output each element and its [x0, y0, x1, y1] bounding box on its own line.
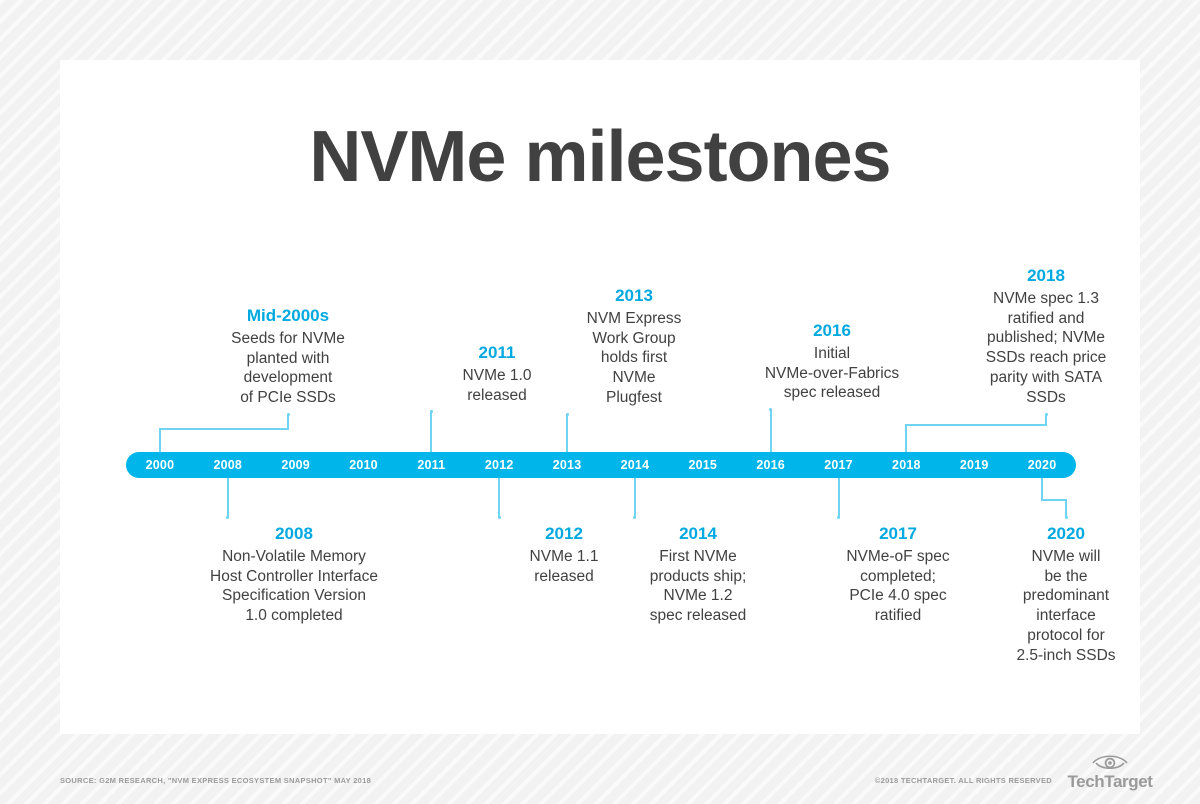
connector-2020-vertical-lower	[1065, 500, 1067, 517]
connector-2018-horizontal	[905, 424, 1047, 426]
connector-2018-vertical-lower	[905, 425, 907, 452]
page-title: NVMe milestones	[60, 120, 1140, 196]
connector-mid-2000s-vertical-lower	[159, 429, 161, 452]
techtarget-logo: TechTarget	[1060, 752, 1160, 792]
annotation-year: Mid-2000s	[183, 305, 393, 327]
timeline-tick-2018: 2018	[892, 452, 921, 478]
techtarget-wordmark: TechTarget	[1060, 772, 1160, 792]
footer-source-text: SOURCE: G2M RESEARCH, "NVM EXPRESS ECOSY…	[60, 776, 371, 785]
timeline-tick-2020: 2020	[1028, 452, 1057, 478]
connector-2017-dot	[837, 516, 840, 519]
annotation-year: 2008	[164, 523, 424, 545]
timeline-tick-2010: 2010	[349, 452, 378, 478]
connector-2018-dot	[1045, 413, 1048, 416]
timeline-tick-2009: 2009	[281, 452, 310, 478]
annotation-2018: 2018NVMe spec 1.3 ratified and published…	[946, 265, 1146, 408]
annotation-year: 2017	[808, 523, 988, 545]
annotation-body: NVMe-oF spec completed; PCIe 4.0 spec ra…	[808, 547, 988, 626]
connector-2014-vertical	[634, 478, 636, 517]
timeline-tick-2019: 2019	[960, 452, 989, 478]
annotation-2016: 2016Initial NVMe-over-Fabrics spec relea…	[727, 320, 937, 403]
annotation-2008: 2008Non-Volatile Memory Host Controller …	[164, 523, 424, 626]
annotation-body: NVMe will be the predominant interface p…	[986, 547, 1146, 666]
annotation-2014: 2014First NVMe products ship; NVMe 1.2 s…	[608, 523, 788, 626]
annotation-year: 2020	[986, 523, 1146, 545]
annotation-year: 2018	[946, 265, 1146, 287]
annotation-body: Initial NVMe-over-Fabrics spec released	[727, 344, 937, 403]
connector-2011-dot	[430, 410, 433, 413]
connector-2014-dot	[633, 516, 636, 519]
connector-mid-2000s-dot	[287, 413, 290, 416]
connector-2008-vertical	[227, 478, 229, 517]
connector-2013-vertical	[566, 414, 568, 452]
timeline-tick-2000: 2000	[146, 452, 175, 478]
timeline-tick-2011: 2011	[417, 452, 445, 478]
connector-2016-dot	[769, 408, 772, 411]
connector-2008-dot	[226, 516, 229, 519]
footer-copyright-text: ©2018 TECHTARGET. ALL RIGHTS RESERVED	[875, 776, 1052, 785]
timeline-tick-2015: 2015	[688, 452, 717, 478]
annotation-2013: 2013NVM Express Work Group holds first N…	[544, 285, 724, 408]
connector-2012-vertical	[498, 478, 500, 517]
connector-mid-2000s-vertical-upper	[287, 414, 289, 429]
annotation-year: 2013	[544, 285, 724, 307]
annotation-2020: 2020NVMe will be the predominant interfa…	[986, 523, 1146, 666]
connector-2017-vertical	[838, 478, 840, 517]
annotation-mid-2000s: Mid-2000sSeeds for NVMe planted with dev…	[183, 305, 393, 408]
timeline-bar: 2000200820092010201120122013201420152016…	[126, 452, 1076, 478]
annotation-body: Non-Volatile Memory Host Controller Inte…	[164, 547, 424, 626]
timeline-tick-2008: 2008	[213, 452, 242, 478]
annotation-year: 2016	[727, 320, 937, 342]
connector-2020-vertical-upper	[1041, 478, 1043, 500]
annotation-year: 2014	[608, 523, 788, 545]
eye-icon	[1091, 752, 1129, 772]
timeline-tick-2012: 2012	[485, 452, 514, 478]
connector-2020-dot	[1065, 516, 1068, 519]
annotation-body: NVMe spec 1.3 ratified and published; NV…	[946, 289, 1146, 408]
timeline-tick-2014: 2014	[621, 452, 650, 478]
connector-mid-2000s-horizontal	[159, 428, 289, 430]
timeline-tick-2016: 2016	[756, 452, 785, 478]
connector-2012-dot	[498, 516, 501, 519]
annotation-body: NVM Express Work Group holds first NVMe …	[544, 309, 724, 408]
timeline-tick-2013: 2013	[553, 452, 582, 478]
connector-2016-vertical	[770, 409, 772, 452]
infographic-canvas: NVMe milestones Mid-2000sSeeds for NVMe …	[60, 60, 1140, 734]
annotation-body: First NVMe products ship; NVMe 1.2 spec …	[608, 547, 788, 626]
connector-2011-vertical	[430, 411, 432, 452]
connector-2020-horizontal	[1041, 499, 1067, 501]
connector-2013-dot	[566, 413, 569, 416]
annotation-2017: 2017NVMe-oF spec completed; PCIe 4.0 spe…	[808, 523, 988, 626]
timeline-tick-2017: 2017	[824, 452, 853, 478]
annotation-body: Seeds for NVMe planted with development …	[183, 329, 393, 408]
